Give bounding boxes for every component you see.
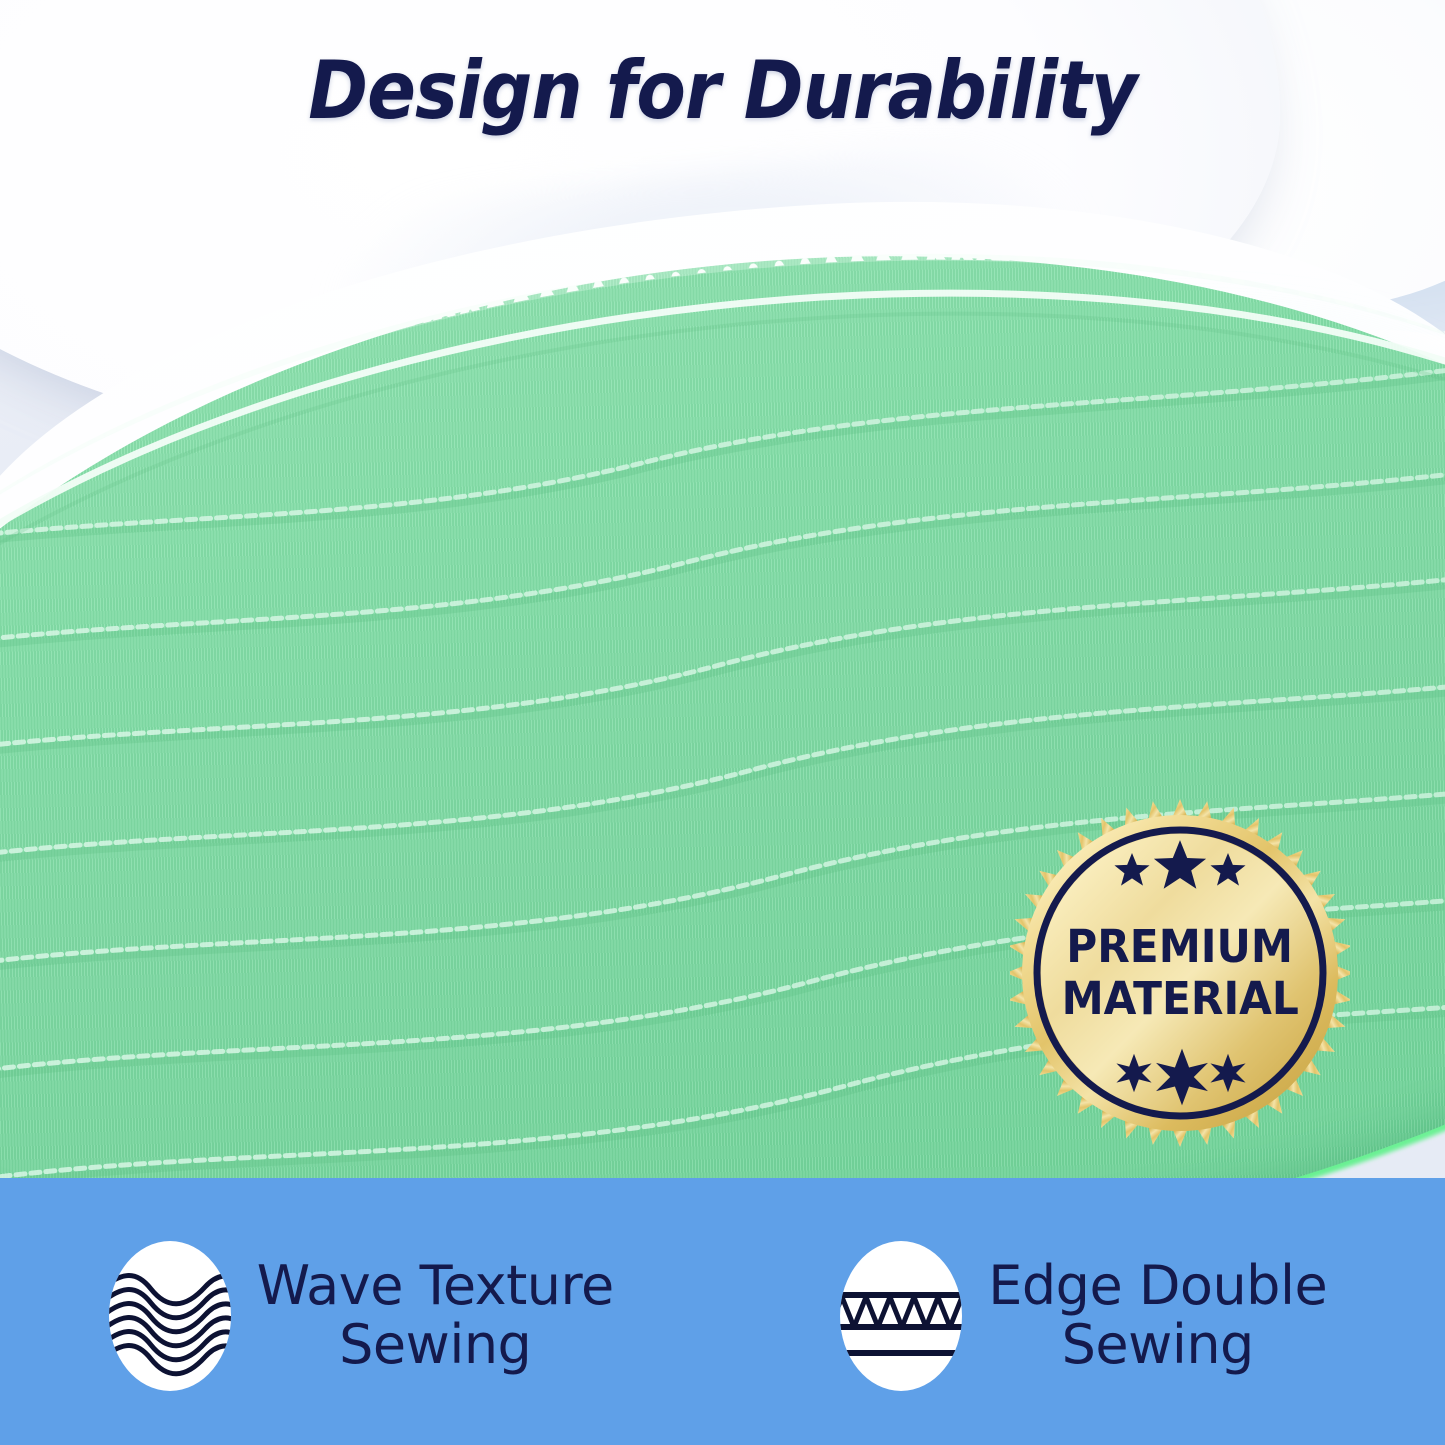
feature-list: Wave Texture Sewing Edge Double Sewing (0, 1178, 1445, 1445)
premium-material-badge: PREMIUM MATERIAL (1010, 795, 1350, 1150)
wave-lines-icon (109, 1241, 231, 1391)
feature-footer: Wave Texture Sewing Edge Double Sewing (0, 1178, 1445, 1445)
zigzag-stitch-icon (840, 1241, 962, 1391)
infographic-stage: Design for Durability (0, 0, 1445, 1445)
feature-wave-texture-sewing: Wave Texture Sewing (0, 1233, 723, 1391)
feature-label: Edge Double Sewing (988, 1257, 1327, 1374)
page-title: Design for Durability (72, 44, 1373, 137)
feature-label: Wave Texture Sewing (257, 1257, 614, 1374)
feature-edge-double-sewing: Edge Double Sewing (723, 1233, 1445, 1391)
